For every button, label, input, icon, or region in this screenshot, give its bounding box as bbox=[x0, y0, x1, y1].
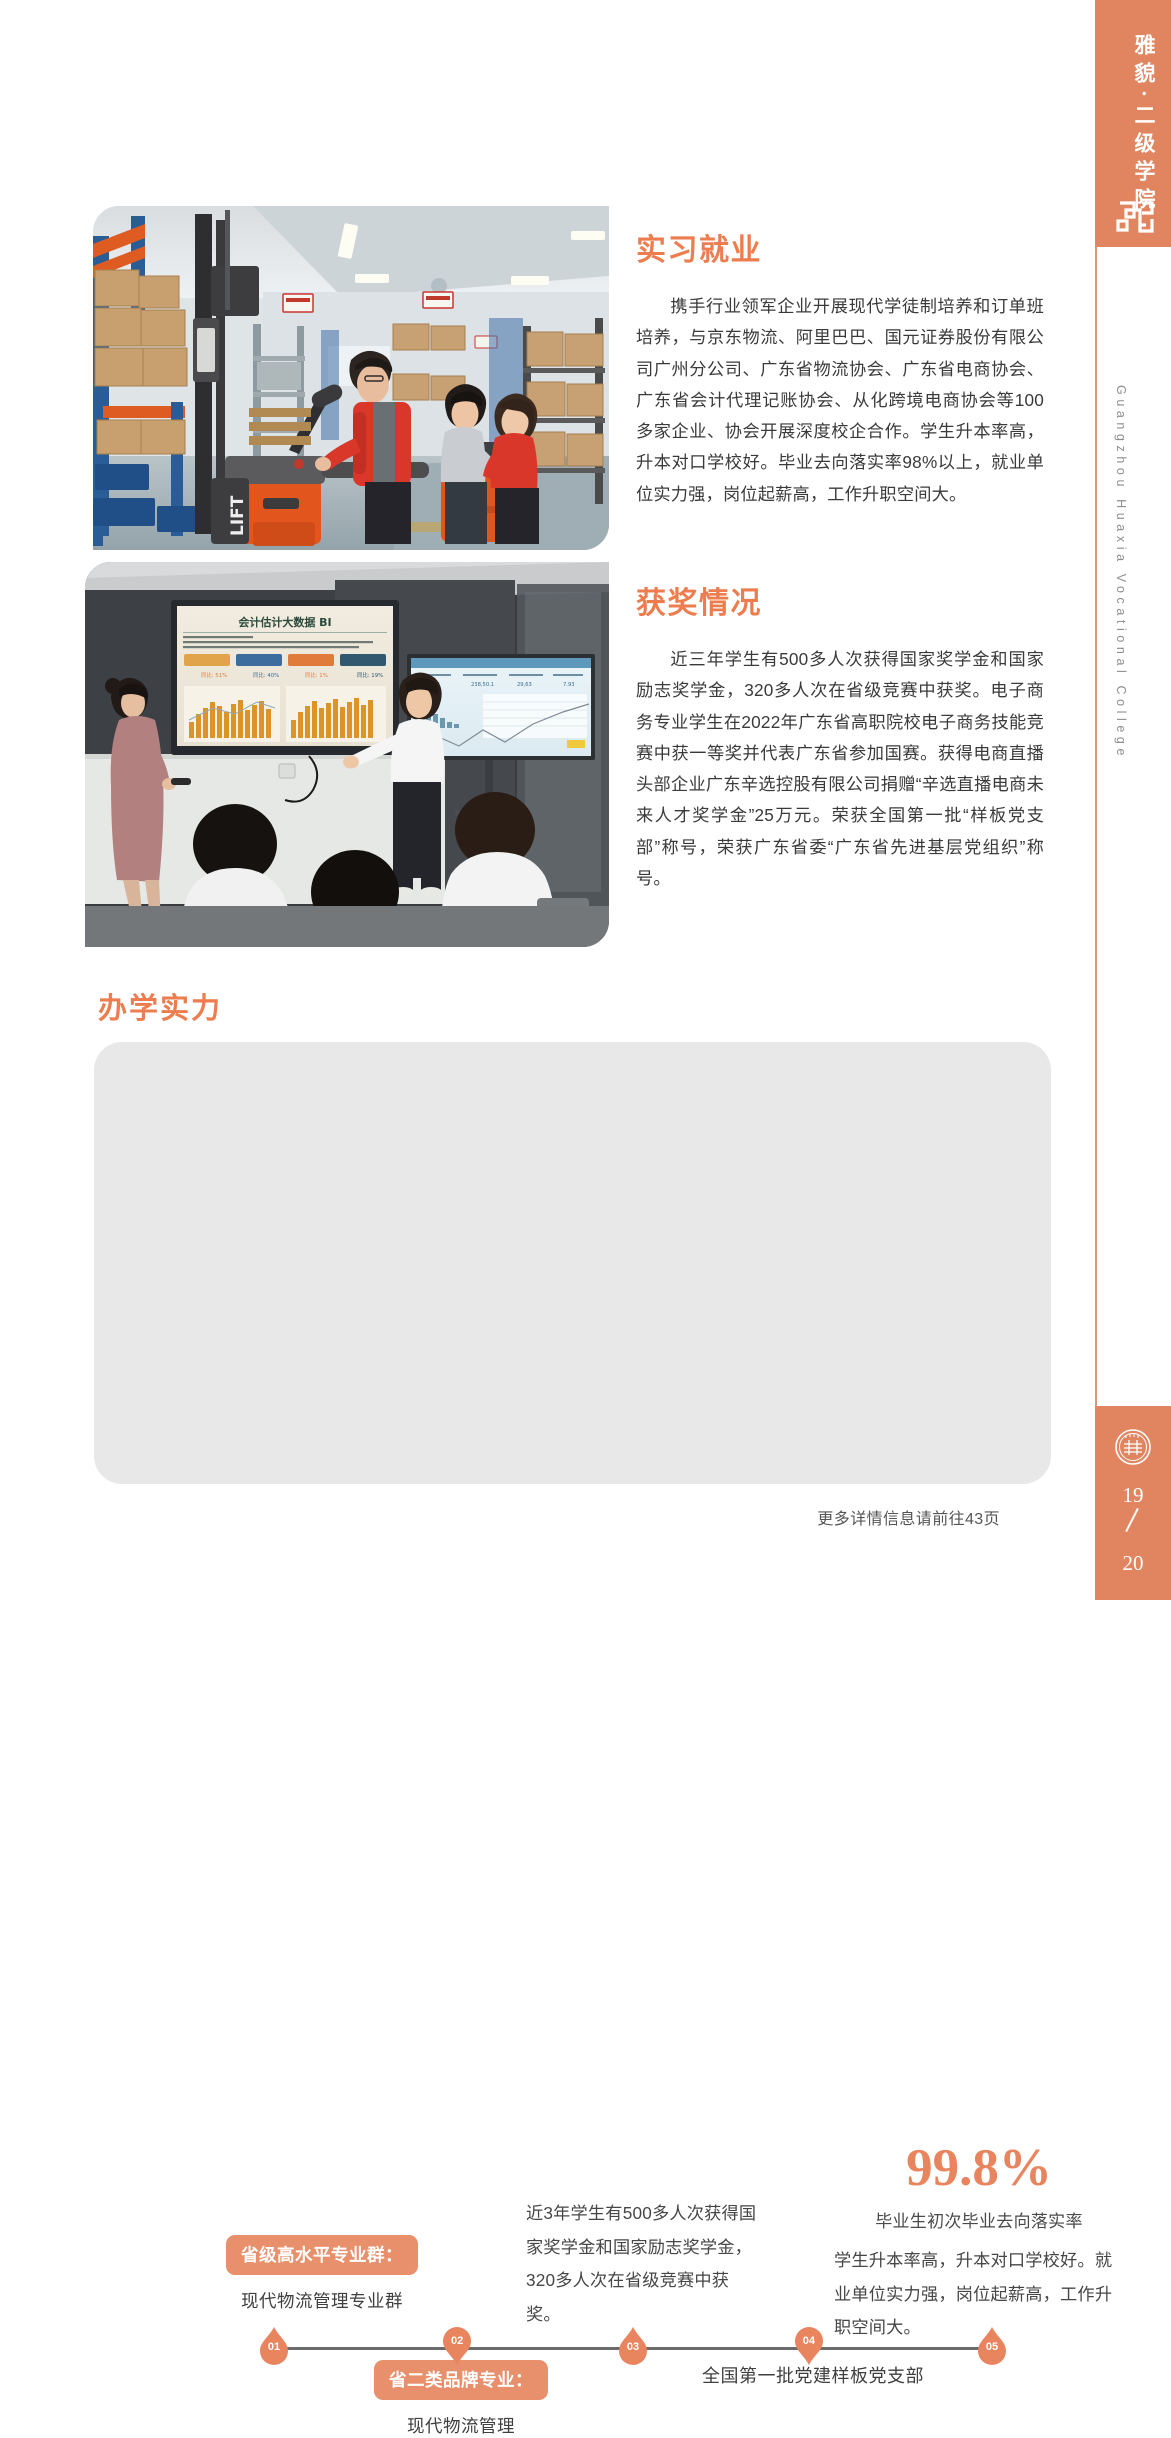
timeline-node-number: 03 bbox=[619, 2341, 647, 2353]
timeline-node-03: 03 bbox=[619, 2327, 647, 2367]
photo-classroom-presentation: 会计估计大数据 BI 同比: 51% 同比: 40% 同比: 1% 同比: 19… bbox=[85, 562, 609, 947]
band-divider-line bbox=[1095, 247, 1097, 1407]
chinese-key-pattern-icon bbox=[1114, 197, 1158, 237]
brand-major-value: 现代物流管理 bbox=[374, 2413, 548, 2438]
section-internship: 实习就业 携手行业领军企业开展现代学徒制培养和订单班培养，与京东物流、阿里巴巴、… bbox=[636, 225, 1044, 510]
awards-body: 近三年学生有500多人次获得国家奖学金和国家励志奖学金，320多人次在省级竞赛中… bbox=[636, 644, 1044, 894]
svg-text:同比: 19%: 同比: 19% bbox=[357, 671, 383, 679]
page-slash-divider bbox=[1120, 1508, 1146, 1532]
sidebar-title-cn: 雅貌·二级学院 bbox=[1112, 34, 1154, 216]
timeline-node-02: 02 bbox=[443, 2327, 471, 2367]
page-current: 19 bbox=[1123, 1484, 1144, 1506]
svg-text:LIFT: LIFT bbox=[228, 495, 248, 536]
internship-body: 携手行业领军企业开展现代学徒制培养和订单班培养，与京东物流、阿里巴巴、国元证券股… bbox=[636, 291, 1044, 510]
timeline-node-05: 05 bbox=[978, 2327, 1006, 2367]
page-total: 20 bbox=[1123, 1552, 1144, 1574]
placement-stat-block: 99.8% 毕业生初次毕业去向落实率 学生升本率高，升本对口学校好。就业单位实力… bbox=[834, 2142, 1124, 2345]
provincial-group-tag: 省级高水平专业群： bbox=[226, 2235, 418, 2275]
school-seal-icon bbox=[1114, 1428, 1152, 1466]
section-awards: 获奖情况 近三年学生有500多人次获得国家奖学金和国家励志奖学金，320多人次在… bbox=[636, 578, 1044, 894]
sidebar-title-en: Guangzhou Huaxia Vocational College bbox=[1114, 385, 1128, 760]
svg-text:238,50.1: 238,50.1 bbox=[471, 682, 494, 688]
svg-text:7.93: 7.93 bbox=[563, 682, 575, 688]
placement-rate-label: 毕业生初次毕业去向落实率 bbox=[834, 2207, 1124, 2232]
svg-text:会计估计大数据 BI: 会计估计大数据 BI bbox=[238, 615, 331, 629]
timeline-node-04: 04 bbox=[795, 2327, 823, 2367]
right-edge-band: 雅貌·二级学院 Guangzhou Huaxia Vocational Coll… bbox=[1076, 0, 1171, 1600]
timeline-node-01: 01 bbox=[260, 2327, 288, 2367]
timeline-node-number: 05 bbox=[978, 2341, 1006, 2353]
svg-text:同比: 51%: 同比: 51% bbox=[201, 671, 227, 679]
svg-text:29,63: 29,63 bbox=[517, 682, 532, 688]
strength-timeline: 0102030405 bbox=[274, 2327, 992, 2371]
strength-card: 省级高水平专业群： 现代物流管理专业群 省二类品牌专业： 现代物流管理 近3年学… bbox=[94, 1042, 1051, 1484]
svg-text:同比: 1%: 同比: 1% bbox=[305, 671, 328, 679]
timeline-node-number: 01 bbox=[260, 2341, 288, 2353]
page-number-badge: 19 20 bbox=[1095, 1406, 1171, 1600]
strength-heading: 办学实力 bbox=[98, 985, 222, 1027]
svg-text:同比: 40%: 同比: 40% bbox=[253, 671, 279, 679]
awards-heading: 获奖情况 bbox=[636, 578, 1044, 622]
photo-warehouse-internship: LIFT JQL bbox=[93, 206, 609, 550]
footer-note: 更多详情信息请前往43页 bbox=[0, 1505, 1051, 1529]
provincial-group-value: 现代物流管理专业群 bbox=[226, 2288, 418, 2313]
internship-heading: 实习就业 bbox=[636, 225, 1044, 269]
scholarship-text: 近3年学生有500多人次获得国家奖学金和国家励志奖学金，320多人次在省级竞赛中… bbox=[526, 2197, 758, 2331]
brand-major-block: 省二类品牌专业： 现代物流管理 bbox=[374, 2360, 548, 2438]
timeline-node-number: 04 bbox=[795, 2335, 823, 2347]
placement-rate-value: 99.8% bbox=[834, 2142, 1124, 2195]
timeline-node-number: 02 bbox=[443, 2335, 471, 2347]
provincial-group-block: 省级高水平专业群： 现代物流管理专业群 bbox=[226, 2235, 418, 2313]
